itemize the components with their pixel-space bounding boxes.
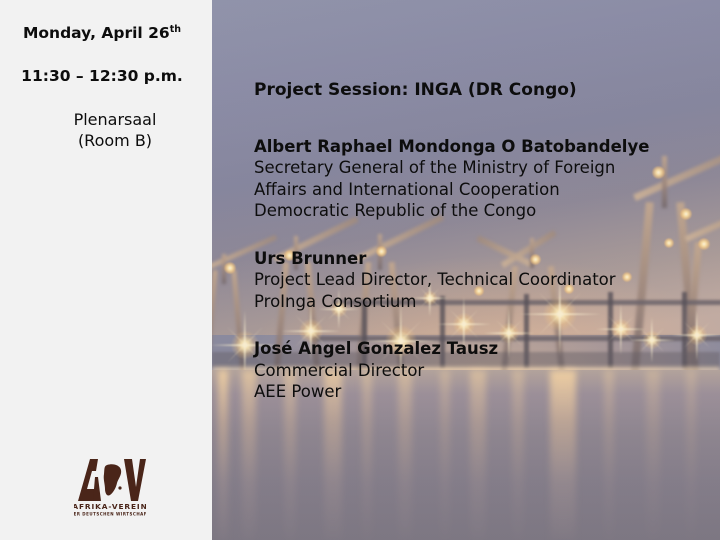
session-room-number: (Room B) (0, 131, 204, 152)
schedule-block: Monday, April 26th 11:30 – 12:30 p.m. Pl… (0, 26, 212, 152)
logo-letter-a-stem (93, 477, 101, 501)
session-details: Project Session: INGA (DR Congo) Albert … (254, 82, 706, 402)
logo-tagline: DER DEUTSCHEN WIRTSCHAFT (74, 511, 146, 516)
speaker-name: Urs Brunner (254, 248, 706, 269)
speaker-role-line: Commercial Director (254, 360, 706, 381)
schedule-sidebar: Monday, April 26th 11:30 – 12:30 p.m. Pl… (0, 0, 212, 540)
presentation-slide: Project Session: INGA (DR Congo) Albert … (0, 0, 720, 540)
session-date: Monday, April 26th (0, 26, 204, 42)
session-date-suffix: th (170, 24, 181, 35)
speaker-block-1: Albert Raphael Mondonga O Batobandelye S… (254, 136, 706, 222)
speaker-role-line: Affairs and International Cooperation (254, 179, 706, 200)
speaker-block-2: Urs Brunner Project Lead Director, Techn… (254, 248, 706, 312)
logo-wordmark: AFRIKA-VEREIN (74, 502, 146, 511)
speaker-name: Albert Raphael Mondonga O Batobandelye (254, 136, 706, 157)
logo-africa-shape (104, 464, 121, 495)
speaker-role-line: ProInga Consortium (254, 291, 706, 312)
speaker-block-3: José Angel Gonzalez Tausz Commercial Dir… (254, 338, 706, 402)
logo-letter-v (124, 459, 146, 501)
afrika-verein-logo: AFRIKA-VEREIN DER DEUTSCHEN WIRTSCHAFT (74, 455, 146, 517)
speaker-role-line: Project Lead Director, Technical Coordin… (254, 269, 706, 290)
speaker-role-line: AEE Power (254, 381, 706, 402)
speaker-name: José Angel Gonzalez Tausz (254, 338, 706, 359)
logo-madagascar-dot (118, 486, 121, 489)
session-title: Project Session: INGA (DR Congo) (254, 82, 706, 99)
speaker-role-line: Secretary General of the Ministry of For… (254, 157, 706, 178)
session-date-text: Monday, April 26 (23, 24, 170, 42)
session-time: 11:30 – 12:30 p.m. (0, 69, 204, 85)
speaker-role-line: Democratic Republic of the Congo (254, 200, 706, 221)
session-room-name: Plenarsaal (0, 110, 204, 131)
